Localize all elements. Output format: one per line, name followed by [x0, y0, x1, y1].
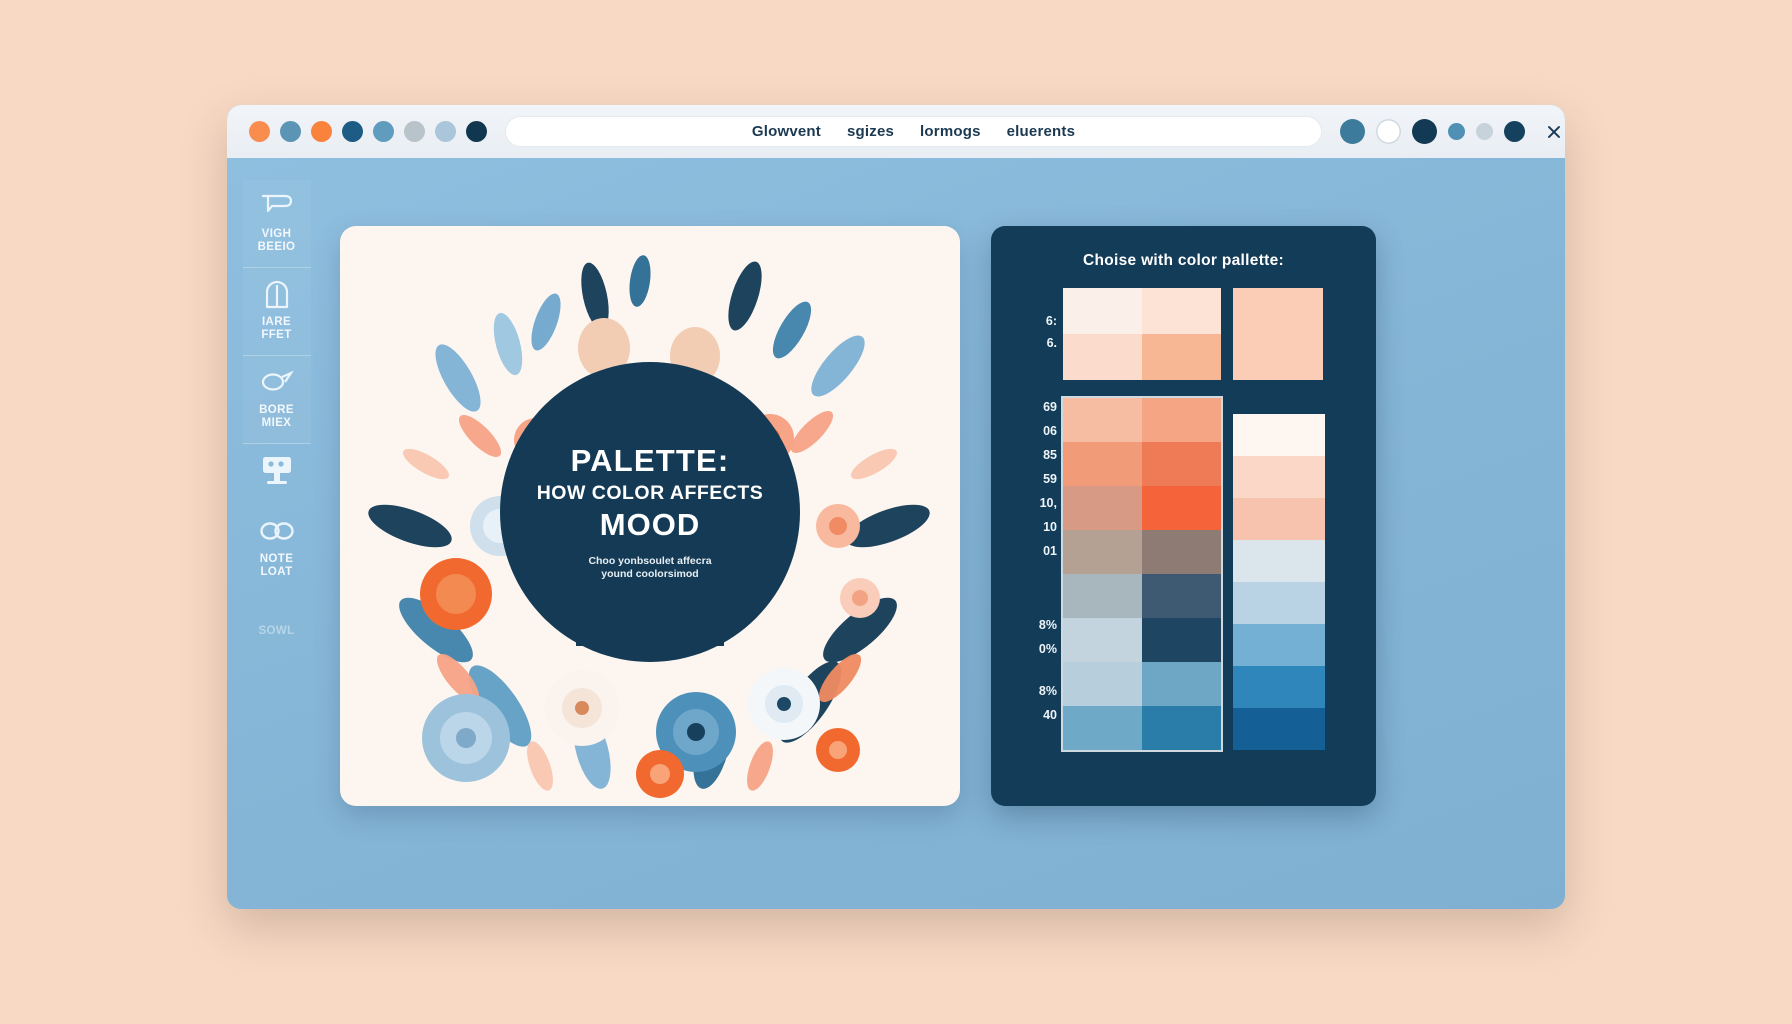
tab-dot-1[interactable]: [249, 121, 270, 142]
poster-artwork: PALETTE: HOW COLOR AFFECTS MOOD Choo yon…: [340, 226, 960, 806]
sidebar-item-vigh-beeio-label-top: VIGH: [262, 228, 292, 241]
sidebar-item-image-frame[interactable]: [243, 444, 311, 505]
color-swatch[interactable]: [1063, 288, 1142, 334]
window-control-dot-dark[interactable]: [1504, 121, 1525, 142]
sidebar-item-bore-miex-label-top: BORE: [259, 404, 294, 417]
sidebar-item-sowl[interactable]: SOWL: [243, 614, 311, 651]
poster-subtitle: HOW COLOR AFFECTS: [537, 482, 764, 505]
arch-shape-icon: [259, 279, 295, 309]
swatch-block-b[interactable]: [1233, 288, 1323, 380]
sidebar-item-iare-ffet[interactable]: IAREFFET: [243, 268, 311, 356]
color-swatch[interactable]: [1142, 442, 1221, 486]
color-swatch[interactable]: [1142, 574, 1221, 618]
tab-dot-3[interactable]: [311, 121, 332, 142]
window-control-minimize[interactable]: [1340, 119, 1365, 144]
poster-subtitle2: MOOD: [600, 507, 700, 543]
swatch-row-label: 0%: [1013, 642, 1057, 656]
color-swatch[interactable]: [1063, 530, 1142, 574]
color-swatch[interactable]: [1063, 442, 1142, 486]
window-control-dot-small[interactable]: [1448, 123, 1465, 140]
swatch-row-label: 59: [1013, 472, 1057, 486]
sidebar-item-vigh-beeio-label-bottom: BEEIO: [258, 241, 296, 254]
omnibox-word-2: sgizes: [847, 123, 894, 140]
swatch-row-label: 40: [1013, 708, 1057, 722]
tab-dot-2[interactable]: [280, 121, 301, 142]
color-swatch[interactable]: [1063, 706, 1142, 750]
color-swatch[interactable]: [1142, 706, 1221, 750]
color-swatch[interactable]: [1142, 618, 1221, 662]
color-swatch[interactable]: [1233, 708, 1325, 750]
omnibox-word-1: Glowvent: [752, 123, 821, 140]
sidebar-item-iare-ffet-label-bottom: FFET: [261, 329, 291, 342]
color-swatch[interactable]: [1142, 398, 1221, 442]
palette-panel-title: Choise with color pallette:: [1013, 252, 1354, 270]
color-swatch[interactable]: [1142, 288, 1221, 334]
window-control-dot-grey[interactable]: [1476, 123, 1493, 140]
color-swatch[interactable]: [1142, 662, 1221, 706]
color-swatch[interactable]: [1233, 456, 1325, 498]
swatch-row-label: 8%: [1013, 684, 1057, 698]
swatch-row-label: 8%: [1013, 618, 1057, 632]
swatch-row-label: 6:: [1013, 314, 1057, 328]
omnibox-word-3: lormogs: [920, 123, 981, 140]
sidebar-item-iare-ffet-label-top: IARE: [262, 316, 291, 329]
color-swatch[interactable]: [1063, 662, 1142, 706]
swatch-row-label: 10: [1013, 520, 1057, 534]
window-controls: [1340, 119, 1525, 144]
poster-center-disc: PALETTE: HOW COLOR AFFECTS MOOD Choo yon…: [500, 362, 800, 662]
app-window: Glowvent sgizes lormogs eluerents VIGHBE…: [227, 105, 1565, 909]
titlebar: Glowvent sgizes lormogs eluerents: [227, 105, 1565, 158]
bookmark-flag-icon: [259, 191, 295, 221]
canvas-card[interactable]: PALETTE: HOW COLOR AFFECTS MOOD Choo yon…: [340, 226, 960, 806]
ring-ellipse-icon: [259, 367, 295, 397]
sidebar-item-vigh-beeio[interactable]: VIGHBEEIO: [243, 180, 311, 268]
color-swatch[interactable]: [1233, 498, 1325, 540]
poster-caption: Choo yonbsoulet affecra yound coolorsimo…: [588, 555, 711, 581]
poster-caption-line1: Choo yonbsoulet affecra: [588, 555, 711, 568]
tab-dot-7[interactable]: [435, 121, 456, 142]
sidebar-item-note-loat-label-top: NOTE: [260, 553, 294, 566]
address-bar[interactable]: Glowvent sgizes lormogs eluerents: [505, 116, 1322, 147]
color-swatch[interactable]: [1063, 574, 1142, 618]
color-swatch[interactable]: [1142, 334, 1221, 380]
swatch-row-label: 06: [1013, 424, 1057, 438]
window-control-restore[interactable]: [1376, 119, 1401, 144]
poster-caption-line2: yound coolorsimod: [588, 568, 711, 581]
tab-dot-4[interactable]: [342, 121, 363, 142]
window-body: VIGHBEEIOIAREFFETBOREMIEXNOTELOATSOWL: [227, 158, 1565, 909]
sidebar: VIGHBEEIOIAREFFETBOREMIEXNOTELOATSOWL: [234, 158, 319, 909]
sidebar-item-sowl-label-top: SOWL: [258, 625, 294, 638]
color-swatch[interactable]: [1063, 618, 1142, 662]
window-control-maximize[interactable]: [1412, 119, 1437, 144]
tab-dot-6[interactable]: [404, 121, 425, 142]
color-swatch[interactable]: [1063, 486, 1142, 530]
swatch-row-label: 10,: [1013, 496, 1057, 510]
swatch-row-label: 6.: [1013, 336, 1057, 350]
poster-title: PALETTE:: [571, 444, 730, 478]
color-swatch[interactable]: [1233, 288, 1323, 380]
color-swatch[interactable]: [1142, 530, 1221, 574]
color-swatch[interactable]: [1233, 624, 1325, 666]
color-swatch[interactable]: [1233, 414, 1325, 456]
image-frame-icon: [259, 455, 295, 485]
sidebar-item-bore-miex-label-bottom: MIEX: [262, 417, 292, 430]
tab-dot-8[interactable]: [466, 121, 487, 142]
swatch-block-c[interactable]: [1063, 398, 1221, 750]
color-swatch[interactable]: [1233, 582, 1325, 624]
swatch-row-label: 85: [1013, 448, 1057, 462]
color-swatch[interactable]: [1063, 398, 1142, 442]
swatch-row-label: 01: [1013, 544, 1057, 558]
color-swatch[interactable]: [1233, 540, 1325, 582]
color-swatch[interactable]: [1233, 666, 1325, 708]
tab-dot-group: [249, 121, 487, 142]
sidebar-item-note-loat-label-bottom: LOAT: [260, 566, 292, 579]
swatch-block-a[interactable]: [1063, 288, 1221, 380]
omnibox-word-4: eluerents: [1007, 123, 1076, 140]
color-swatch[interactable]: [1063, 334, 1142, 380]
sidebar-item-note-loat[interactable]: NOTELOAT: [243, 505, 311, 592]
swatch-row-label: 69: [1013, 400, 1057, 414]
double-circle-icon: [259, 516, 295, 546]
close-icon[interactable]: [1543, 121, 1565, 143]
sidebar-item-bore-miex[interactable]: BOREMIEX: [243, 356, 311, 444]
swatch-area: 6:6.6906855910,10018%0%8%40: [1013, 288, 1354, 768]
tab-dot-5[interactable]: [373, 121, 394, 142]
color-swatch[interactable]: [1142, 486, 1221, 530]
swatch-block-d[interactable]: [1233, 414, 1325, 750]
palette-panel: Choise with color pallette: 6:6.69068559…: [991, 226, 1376, 806]
